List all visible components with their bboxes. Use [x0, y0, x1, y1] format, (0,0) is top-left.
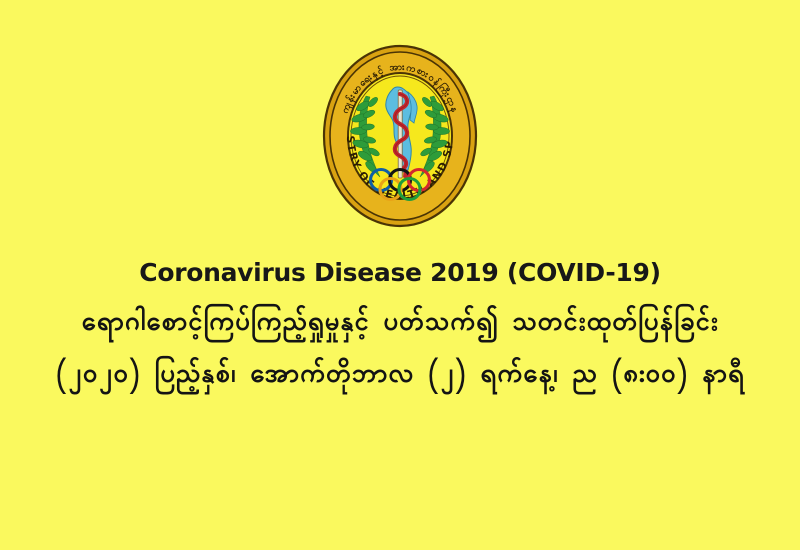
announcement-poster: ကျန်းမာရေးနှင့် အားကစားဝန်ကြီးဌာန MINIST…	[0, 0, 800, 550]
announcement-subject-burmese: ရောဂါစောင့်ကြပ်ကြည့်ရှုမှုနှင့် ပတ်သက်၍ …	[0, 304, 800, 346]
ministry-seal-icon: ကျန်းမာရေးနှင့် အားကစားဝန်ကြီးဌာန MINIST…	[322, 32, 478, 232]
ministry-seal-logo: ကျန်းမာရေးနှင့် အားကစားဝန်ကြီးဌာန MINIST…	[322, 32, 478, 232]
announcement-datetime-burmese: (၂၀၂၀) ပြည့်နှစ်၊ အောက်တိုဘာလ (၂) ရက်နေ့…	[0, 356, 800, 398]
announcement-text-block: Coronavirus Disease 2019 (COVID-19) ရောဂ…	[0, 258, 800, 398]
page-title-english: Coronavirus Disease 2019 (COVID-19)	[0, 258, 800, 288]
